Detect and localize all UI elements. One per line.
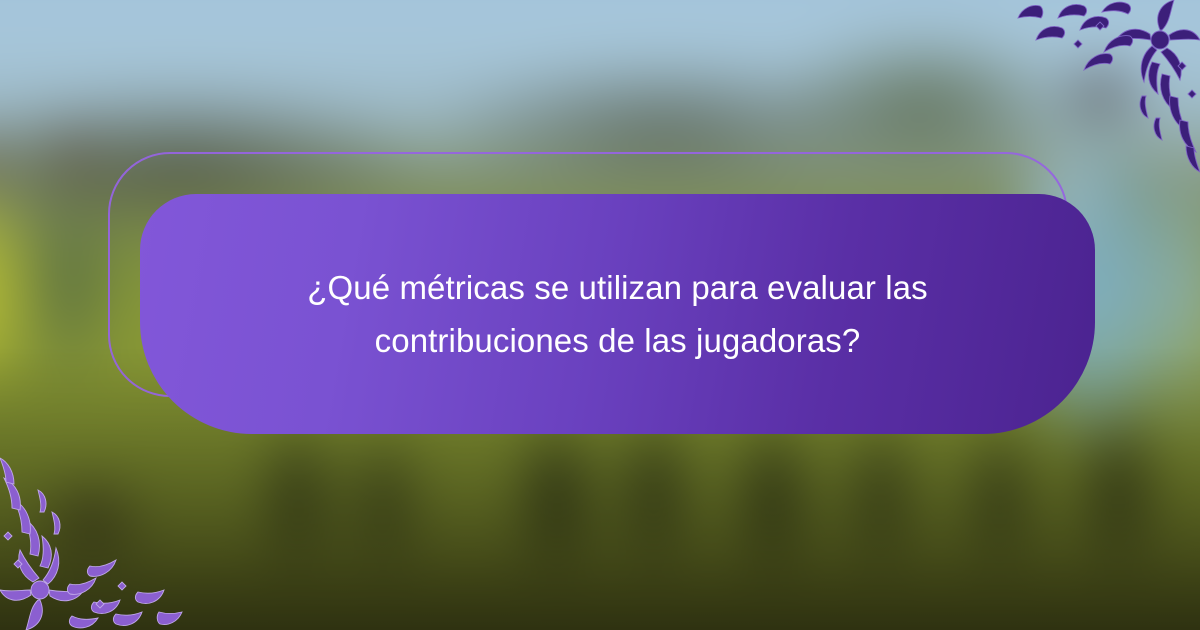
question-card: ¿Qué métricas se utilizan para evaluar l… [140,194,1095,434]
question-card-graphic: ¿Qué métricas se utilizan para evaluar l… [0,0,1200,630]
question-text: ¿Qué métricas se utilizan para evaluar l… [248,261,988,368]
